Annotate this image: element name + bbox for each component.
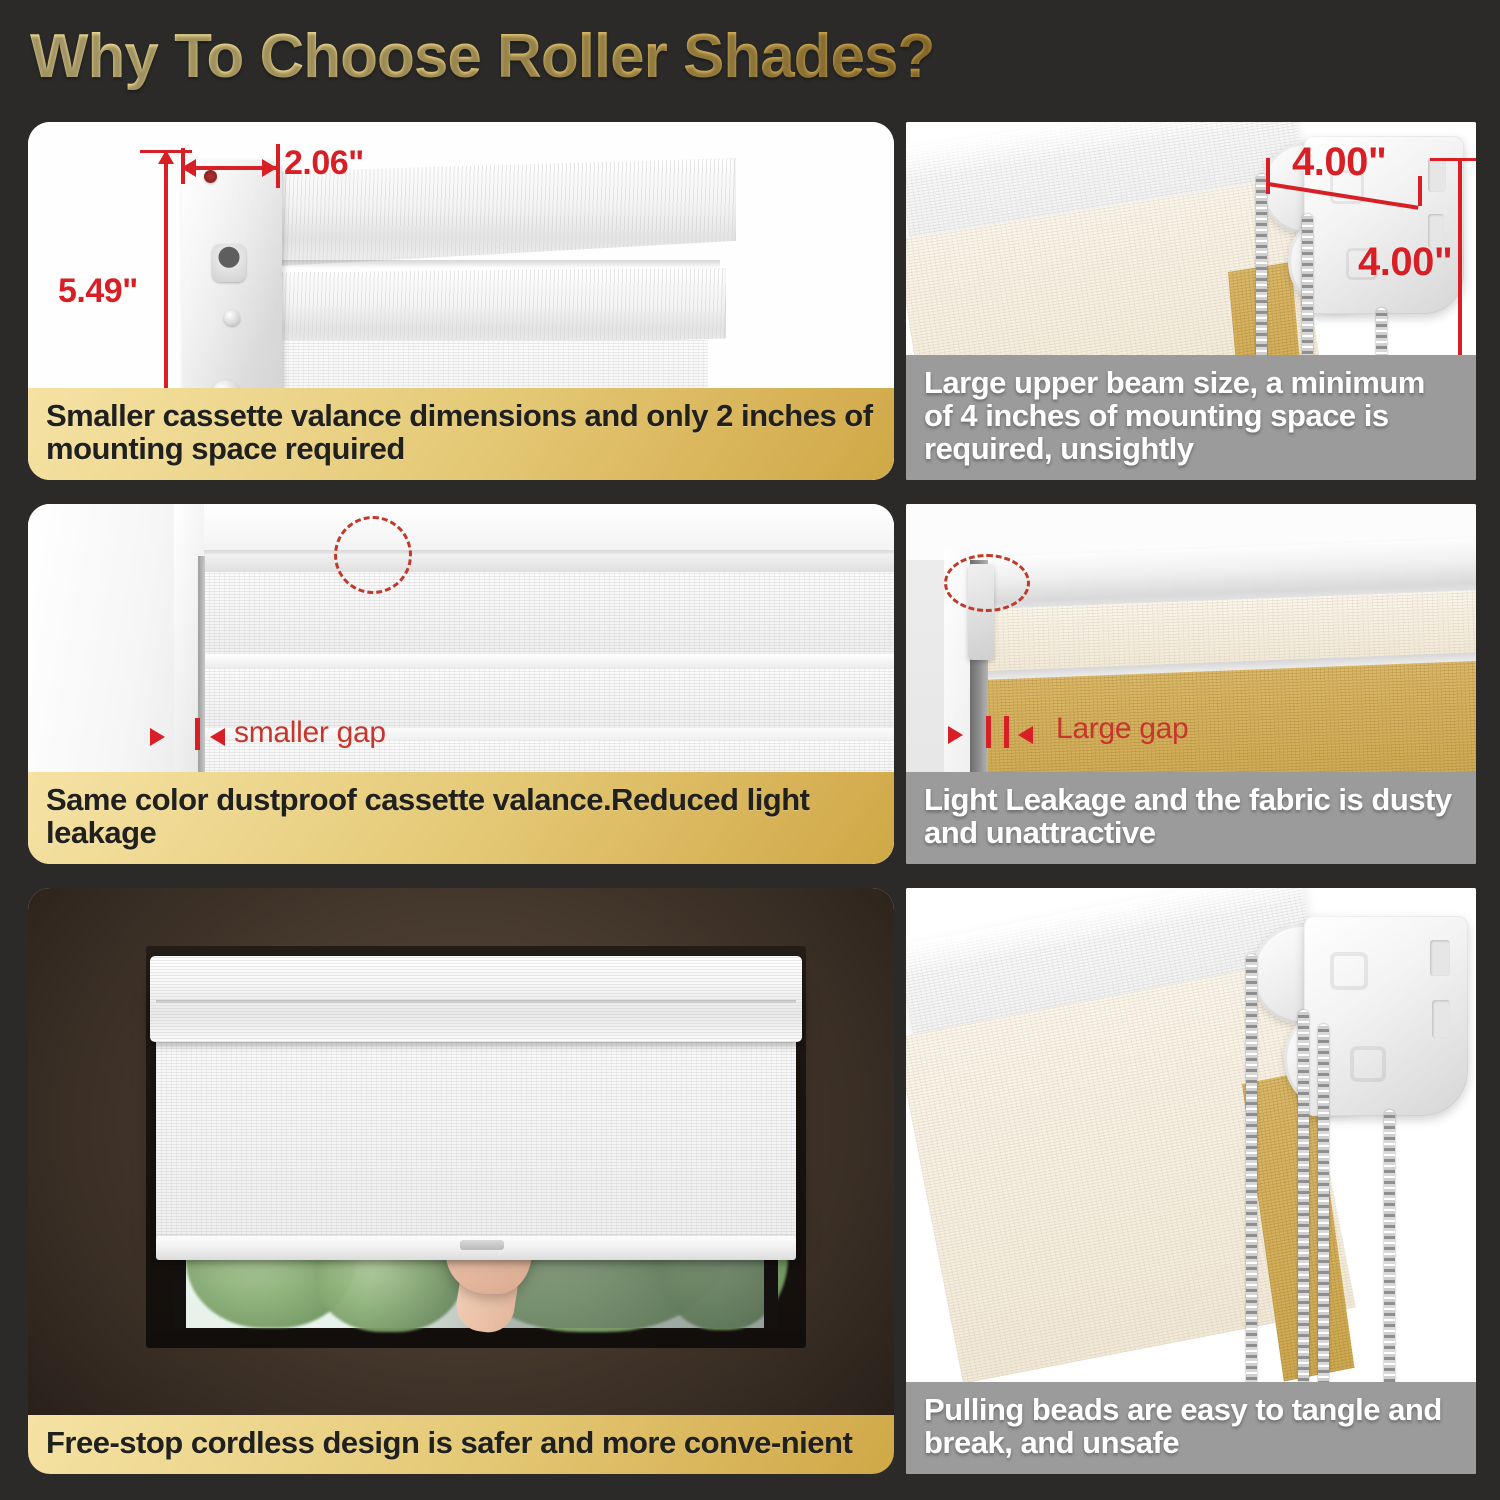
panel-large-beam: 4.00" 4.00" Large upper beam size, a min… <box>906 122 1476 480</box>
gap-label: smaller gap <box>234 716 386 750</box>
bead-chain-4 <box>1384 1110 1395 1394</box>
height-dimension-label: 5.49" <box>58 272 138 311</box>
valance-seam-line <box>156 1000 796 1005</box>
side-gap-strip <box>198 556 205 804</box>
cassette-valance-shadow-line <box>210 260 720 268</box>
window-frame-left <box>28 504 198 804</box>
window-frame-top <box>178 504 894 556</box>
bead-chain-3 <box>1318 1024 1329 1394</box>
beam-height-dim-line <box>1458 158 1462 374</box>
page-title: Why To Choose Roller Shades? <box>30 21 934 92</box>
panel-1-caption: Smaller cassette valance dimensions and … <box>28 388 894 480</box>
end-cap-screw-upper <box>224 310 240 326</box>
width-dimension-label: 2.06" <box>284 144 364 183</box>
bead-chain-1 <box>1246 954 1257 1394</box>
panel-cassette-dimensions: 2.06" 5.49" Smaller cassette valance dim… <box>28 122 894 480</box>
panel-5-image <box>28 888 894 1474</box>
panel-6-caption: Pulling beads are easy to tangle and bre… <box>906 1382 1476 1474</box>
cassette-valance-headrail <box>150 956 802 1042</box>
bead-chain-2 <box>1298 1010 1309 1394</box>
bracket-emboss-lower <box>1350 1046 1386 1082</box>
shade-fabric-band-1 <box>204 572 894 658</box>
panel-4-caption: Light Leakage and the fabric is dusty an… <box>906 772 1476 864</box>
gap-arrow-right <box>1018 726 1033 744</box>
width-dim-arrow-right <box>262 159 277 177</box>
panel-dustproof-valance: smaller gap Same color dustproof cassett… <box>28 504 894 864</box>
cassette-head-rail <box>204 554 894 574</box>
beam-height-label: 4.00" <box>1358 240 1452 285</box>
gap-arrow-left <box>948 726 963 744</box>
bracket-emboss-upper <box>1330 952 1368 990</box>
bracket-slot-upper <box>1428 158 1446 192</box>
width-dim-arrow-left <box>181 159 196 177</box>
gap-tick-right <box>1004 716 1009 748</box>
beam-height-tick-top <box>1430 158 1476 161</box>
panel-cordless-design: Free-stop cordless design is safer and m… <box>28 888 894 1474</box>
bottom-rail-grip <box>460 1240 504 1250</box>
header-bar: Why To Choose Roller Shades? <box>0 0 1500 112</box>
height-dim-arrow-top <box>158 150 174 164</box>
bracket-slot-lower <box>1432 1000 1450 1038</box>
panel-bead-chain-hazard: Pulling beads are easy to tangle and bre… <box>906 888 1476 1474</box>
beam-width-label: 4.00" <box>1292 140 1386 185</box>
gap-label: Large gap <box>1056 712 1188 746</box>
beam-width-tick-right <box>1418 176 1422 206</box>
highlight-circle-icon <box>944 554 1030 612</box>
gap-arrow-left <box>150 728 165 746</box>
end-cap-pin <box>204 170 217 183</box>
gap-tick <box>195 718 200 750</box>
beam-width-tick-left <box>1266 158 1270 194</box>
highlight-circle-icon <box>334 516 412 594</box>
panel-2-caption: Large upper beam size, a minimum of 4 in… <box>906 355 1476 480</box>
end-cap-clutch-port <box>212 244 246 282</box>
bracket-slot-upper <box>1430 940 1450 976</box>
gap-tick-left <box>986 716 991 748</box>
panel-light-leakage: Large gap Light Leakage and the fabric i… <box>906 504 1476 864</box>
panel-5-caption: Free-stop cordless design is safer and m… <box>28 1415 894 1474</box>
gap-arrow-right <box>210 728 225 746</box>
panel-3-caption: Same color dustproof cassette valance.Re… <box>28 772 894 864</box>
